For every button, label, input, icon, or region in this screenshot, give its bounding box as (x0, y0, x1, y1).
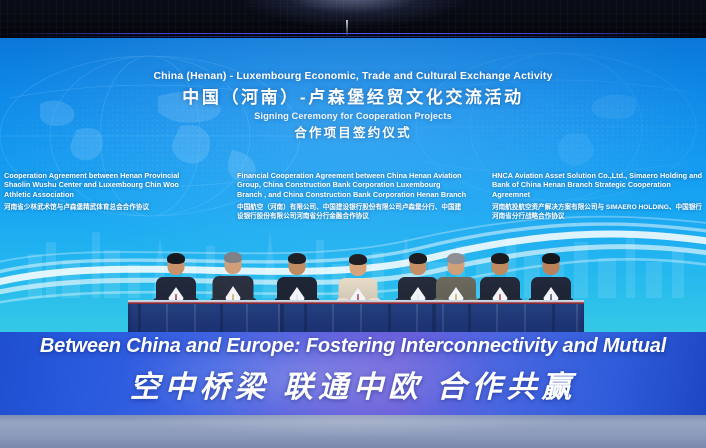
table-skirt-seam (432, 304, 436, 334)
table-skirt-fold (496, 304, 498, 334)
agreement-columns: Cooperation Agreement between Henan Prov… (0, 171, 706, 233)
ceiling-light-strip (0, 33, 706, 34)
signatory-torso (480, 277, 520, 313)
stage-floor (0, 415, 706, 448)
table-skirt-fold (468, 304, 471, 334)
table-skirt-fold (278, 304, 280, 334)
table-skirt-fold (246, 304, 248, 334)
table-skirt-fold (388, 304, 391, 334)
signatory-torso (398, 277, 438, 313)
table-skirt-fold (138, 304, 141, 334)
agreement-middle-chinese: 中国航空（河南）有限公司、中国建设银行股份有限公司卢森堡分行、中国建设银行股份有… (237, 203, 467, 221)
title-english: China (Henan) - Luxembourg Economic, Tra… (0, 70, 706, 82)
signatory-arm-left (395, 298, 408, 313)
signatory-hair (288, 253, 306, 264)
signatory-head (448, 255, 465, 275)
signatory-hair (542, 253, 560, 264)
signatory-hair (167, 253, 185, 264)
subtitle-english: Signing Ceremony for Cooperation Project… (0, 111, 706, 121)
screenshot-stage: China (Henan) - Luxembourg Economic, Tra… (0, 0, 706, 448)
agreement-item-left: Cooperation Agreement between Henan Prov… (4, 171, 204, 212)
agreement-left-chinese: 河南省少林武术馆与卢森堡精武体育总会合作协议 (4, 203, 204, 212)
signatory-torso (531, 277, 571, 313)
led-backdrop-screen: China (Henan) - Luxembourg Economic, Tra… (0, 38, 706, 334)
signing-table (0, 300, 706, 334)
table-skirt-fold (360, 304, 362, 334)
signatory-arm-right (466, 298, 479, 313)
table-skirt (128, 304, 584, 334)
signatory-arm-left (153, 298, 166, 313)
signatory-torso (156, 277, 196, 313)
signatory-tie (549, 294, 554, 313)
signatory-4 (336, 248, 381, 313)
title-chinese: 中国（河南）-卢森堡经贸文化交流活动 (0, 83, 706, 108)
signatory-shirt (290, 287, 305, 313)
signatory-torso (213, 276, 254, 313)
signatory-1 (153, 247, 199, 313)
signatory-shirt (493, 287, 508, 313)
signatory-arm-right (561, 298, 574, 313)
ceiling-light-strip-secondary (0, 36, 706, 37)
table-skirt-fold (304, 304, 307, 334)
dot-matrix-texture (0, 38, 706, 248)
signatory-arm-right (244, 298, 257, 313)
signatory-torso (277, 277, 317, 313)
signatory-arm-left (210, 298, 223, 313)
signatory-tie (416, 294, 421, 313)
signatory-hair (447, 253, 465, 264)
agreement-item-right: HNCA Aviation Asset Solution Co.,Ltd., S… (492, 171, 704, 221)
signatory-hair (409, 253, 427, 264)
signatory-arm-right (186, 298, 199, 313)
signatory-hair (491, 253, 509, 264)
signatory-arm-right (307, 298, 320, 313)
world-map-graphic-right (366, 42, 706, 212)
world-map-graphic (0, 46, 400, 226)
signatory-arm-left (528, 298, 541, 313)
signatory-tie (454, 294, 459, 313)
signatory-arm-right (428, 298, 441, 313)
signatory-shirt (544, 287, 559, 313)
signatory-2 (210, 246, 257, 313)
signatory-shirt (226, 286, 241, 313)
table-skirt-fold (332, 304, 334, 334)
signatory-head (350, 256, 367, 276)
signatory-head (289, 255, 306, 275)
signatory-torso (339, 278, 378, 313)
signatory-head (543, 255, 560, 275)
signatory-tie (295, 294, 300, 313)
banner-text-chinese: 空中桥梁 联通中欧 合作共赢 (0, 362, 706, 406)
signatory-torso (436, 277, 476, 313)
signatory-shirt (169, 287, 184, 313)
agreement-right-english: HNCA Aviation Asset Solution Co.,Ltd., S… (492, 171, 704, 199)
signatory-shirt (449, 287, 464, 313)
signatory-tie (174, 294, 179, 313)
signatory-hair (349, 254, 367, 265)
signatory-arm-left (274, 298, 287, 313)
headline-block: China (Henan) - Luxembourg Economic, Tra… (0, 70, 706, 141)
signatory-tie (356, 294, 361, 313)
signatory-head (168, 255, 185, 275)
signatory-head (492, 255, 509, 275)
table-skirt-fold (576, 304, 578, 334)
banner-text-english: Between China and Europe: Fostering Inte… (0, 335, 706, 358)
signatory-7 (477, 247, 523, 313)
agreement-item-middle: Financial Cooperation Agreement between … (237, 171, 467, 221)
table-skirt-fold (524, 304, 526, 334)
signatory-8 (528, 247, 574, 313)
table-skirt-fold (194, 304, 196, 334)
signatory-tie (498, 294, 503, 313)
table-skirt-fold (552, 304, 555, 334)
signatory-arm-right (510, 298, 523, 313)
signatory-arm-left (336, 298, 349, 313)
table-skirt-fold (220, 304, 223, 334)
table-runner (128, 300, 584, 305)
signatory-3 (274, 247, 320, 313)
signatory-head (410, 255, 427, 275)
signatory-row (0, 243, 706, 313)
signatory-arm-right (368, 298, 381, 313)
table-skirt-seam (280, 304, 284, 334)
signatory-hair (224, 252, 242, 263)
table-skirt-fold (442, 304, 444, 334)
signatory-arm-left (477, 298, 490, 313)
signatory-tie (231, 294, 236, 313)
cityscape-silhouette (0, 202, 706, 298)
agreement-middle-english: Financial Cooperation Agreement between … (237, 171, 467, 199)
agreement-right-chinese: 河南航投航空资产解决方案有限公司与 SIMAERO HOLDING、中国银行河南… (492, 203, 704, 221)
signatory-arm-left (433, 298, 446, 313)
signatory-5 (395, 247, 441, 313)
signatory-shirt (411, 287, 426, 313)
signatory-shirt (351, 288, 366, 313)
signatory-6 (433, 247, 479, 313)
agreement-left-english: Cooperation Agreement between Henan Prov… (4, 171, 204, 199)
subtitle-chinese: 合作项目签约仪式 (0, 122, 706, 141)
lower-banner: Between China and Europe: Fostering Inte… (0, 332, 706, 415)
table-skirt-fold (166, 304, 168, 334)
table-skirt-fold (416, 304, 418, 334)
flowing-ribbon-graphic (0, 198, 706, 318)
signatory-head (225, 254, 242, 274)
